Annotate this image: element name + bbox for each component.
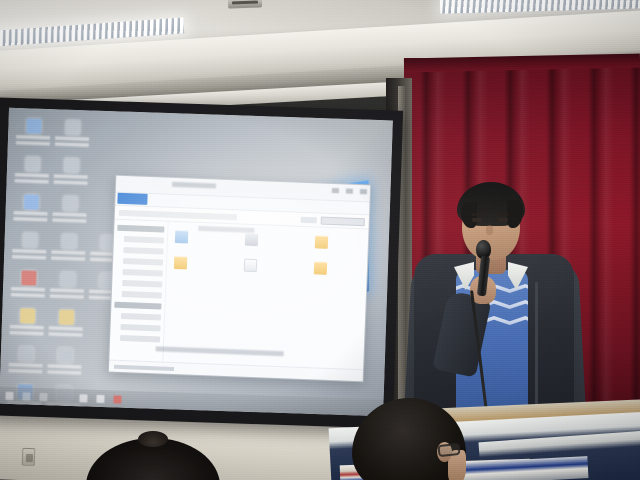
start-button[interactable] — [5, 391, 13, 399]
nav-item-pictures[interactable] — [123, 269, 163, 277]
desktop-icon-20[interactable] — [45, 345, 84, 382]
folder-item-2[interactable] — [245, 233, 299, 248]
nose — [486, 225, 493, 235]
folder-item-3[interactable] — [315, 235, 369, 250]
projection-screen-frame — [0, 97, 403, 428]
desktop-icon-1[interactable] — [14, 116, 53, 153]
desktop-icon-glyph — [61, 234, 76, 249]
maximize-icon[interactable] — [346, 189, 353, 194]
file-row — [174, 256, 371, 279]
file-meta — [260, 259, 298, 261]
desktop-icon-label — [55, 136, 89, 148]
explorer-body — [109, 220, 369, 383]
desktop-icon-4[interactable] — [12, 154, 51, 191]
folder-item-5[interactable] — [174, 256, 228, 271]
desktop-icon-glyph — [65, 120, 80, 135]
projection-screen[interactable] — [0, 108, 393, 417]
file-row — [175, 230, 371, 253]
file-meta — [330, 262, 368, 264]
file-icon — [244, 259, 257, 272]
desktop-icon-glyph — [24, 194, 39, 209]
explorer-ribbon-tab[interactable] — [117, 193, 147, 205]
desktop-icon-16[interactable] — [7, 306, 46, 343]
search-input[interactable] — [321, 217, 365, 227]
desktop-icon-glyph — [25, 156, 40, 171]
desktop-icon-label — [48, 326, 82, 338]
file-icon — [315, 235, 328, 248]
desktop-icon-label — [13, 211, 47, 223]
desktop-icon-label — [9, 325, 43, 337]
file-icon — [314, 261, 327, 274]
desktop-icon-label — [11, 287, 45, 299]
lecture-hall-photo: Lecture hall presentation with projected… — [0, 0, 640, 480]
desktop-icon-8[interactable] — [50, 193, 89, 230]
desktop-icon-glyph — [19, 346, 34, 361]
desktop-icon-label — [52, 212, 86, 224]
nav-item-videos[interactable] — [122, 291, 162, 299]
desktop-icon-label — [53, 174, 87, 186]
address-bar[interactable] — [119, 210, 237, 221]
desktop-icon-glyph — [20, 308, 35, 323]
desktop-icon-5[interactable] — [51, 155, 90, 192]
desktop-icon-label — [50, 288, 84, 300]
nav-item-music[interactable] — [122, 280, 162, 288]
desktop-icon-label — [12, 249, 46, 261]
close-icon[interactable] — [360, 189, 367, 194]
eye-left — [472, 218, 482, 222]
nav-item-local-disk-d[interactable] — [120, 324, 160, 332]
browser-icon[interactable] — [96, 394, 104, 402]
eyebrow-right — [497, 213, 509, 216]
desktop-icon-17[interactable] — [46, 307, 85, 344]
desktop-icon-glyph — [22, 232, 37, 247]
desktop-icon-glyph — [21, 270, 36, 285]
folder-item-7[interactable] — [314, 261, 368, 276]
desktop-icon-14[interactable] — [48, 269, 87, 306]
refresh-icon[interactable] — [301, 217, 317, 224]
file-meta — [190, 257, 228, 259]
desktop-icon-glyph — [64, 158, 79, 173]
navigation-pane[interactable] — [109, 220, 169, 376]
gap — [56, 393, 70, 401]
status-text — [114, 365, 174, 371]
folder-item-1[interactable] — [175, 230, 229, 245]
desktop-icon-label — [15, 173, 49, 185]
ceiling-vent-icon — [228, 0, 262, 9]
desktop-icon-label — [47, 364, 81, 376]
media-app-icon[interactable] — [113, 395, 121, 403]
audience-member-front-right — [352, 398, 466, 480]
desktop-icon-3[interactable] — [92, 119, 131, 156]
desktop-icon-19[interactable] — [6, 344, 45, 381]
desktop-icon-glyph — [58, 348, 73, 363]
file-meta — [261, 233, 299, 235]
desktop-icon-label — [51, 250, 85, 262]
jacket-zipper — [535, 282, 538, 410]
file-explorer-icon[interactable] — [79, 394, 87, 402]
eyeglasses-icon — [437, 443, 460, 457]
file-icon — [174, 256, 187, 269]
desktop-icon-13[interactable] — [9, 268, 48, 305]
desktop-icon-10[interactable] — [10, 230, 49, 267]
desktop-icon-label — [16, 135, 50, 147]
nav-item-desktop[interactable] — [124, 236, 164, 244]
nav-item-quick-access[interactable] — [117, 225, 164, 233]
desktop-icon-label — [8, 363, 42, 375]
nav-item-this-pc[interactable] — [114, 302, 161, 310]
desktop-icon-glyph — [60, 272, 75, 287]
file-list-pane[interactable] — [163, 222, 371, 383]
file-explorer-window[interactable] — [108, 175, 371, 383]
desktop-icon-11[interactable] — [49, 231, 88, 268]
task-view-icon[interactable] — [39, 392, 47, 400]
explorer-title-text — [172, 182, 216, 189]
desktop-icon-2[interactable] — [53, 117, 92, 154]
presenter — [404, 178, 584, 428]
file-meta — [331, 236, 369, 238]
minimize-icon[interactable] — [332, 188, 339, 193]
wall-outlet-icon — [22, 448, 36, 466]
nav-item-downloads[interactable] — [123, 247, 163, 255]
eye-right — [498, 218, 508, 222]
file-icon — [245, 233, 258, 246]
folder-item-6[interactable] — [244, 259, 298, 274]
nav-item-documents[interactable] — [123, 258, 163, 266]
file-icon — [175, 230, 188, 243]
desktop-icon-glyph — [59, 310, 74, 325]
eyebrow-left — [471, 213, 483, 216]
desktop-icon-7[interactable] — [11, 192, 50, 229]
desktop-icon-glyph — [63, 196, 78, 211]
hair — [457, 182, 525, 226]
nav-item-local-disk-c[interactable] — [121, 313, 161, 321]
desktop-icon-glyph — [26, 118, 41, 133]
nav-item-network[interactable] — [120, 335, 160, 343]
window-controls[interactable] — [332, 188, 367, 194]
search-icon[interactable] — [22, 392, 30, 400]
